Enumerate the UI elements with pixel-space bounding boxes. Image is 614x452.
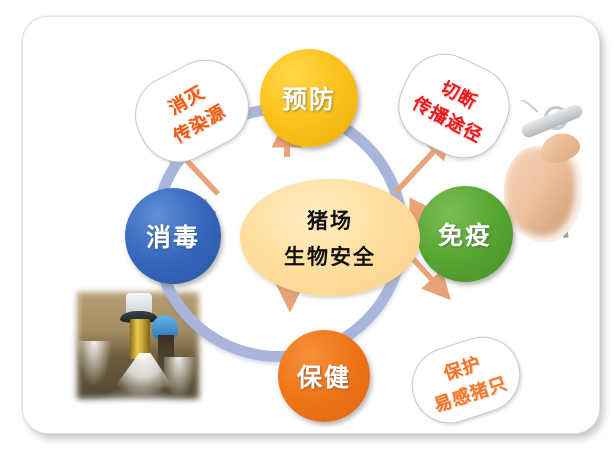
diagram-canvas: 预防 消毒 免疫 保健 猪场 生物安全 消灭 传染源 切断 传播途径 保护 易感… [0,0,614,452]
node-immunization-label: 免疫 [438,216,492,252]
center-topic-line1: 猪场 [307,205,353,235]
node-prevention[interactable]: 预防 [260,49,358,147]
node-immunization[interactable]: 免疫 [417,186,513,282]
center-topic: 猪场 生物安全 [240,179,420,296]
node-prevention-label: 预防 [282,80,336,116]
node-disinfection[interactable]: 消毒 [125,188,221,284]
slide-card: 预防 消毒 免疫 保健 猪场 生物安全 消灭 传染源 切断 传播途径 保护 易感… [22,16,600,434]
spray-mist-left [72,341,112,401]
node-healthcare-label: 保健 [297,358,351,394]
node-healthcare[interactable]: 保健 [278,330,370,422]
node-disinfection-label: 消毒 [146,218,200,254]
callout-protect-susceptible[interactable]: 保护 易感猪只 [402,327,530,433]
center-topic-line2: 生物安全 [284,241,376,271]
hand-shape [504,146,582,242]
